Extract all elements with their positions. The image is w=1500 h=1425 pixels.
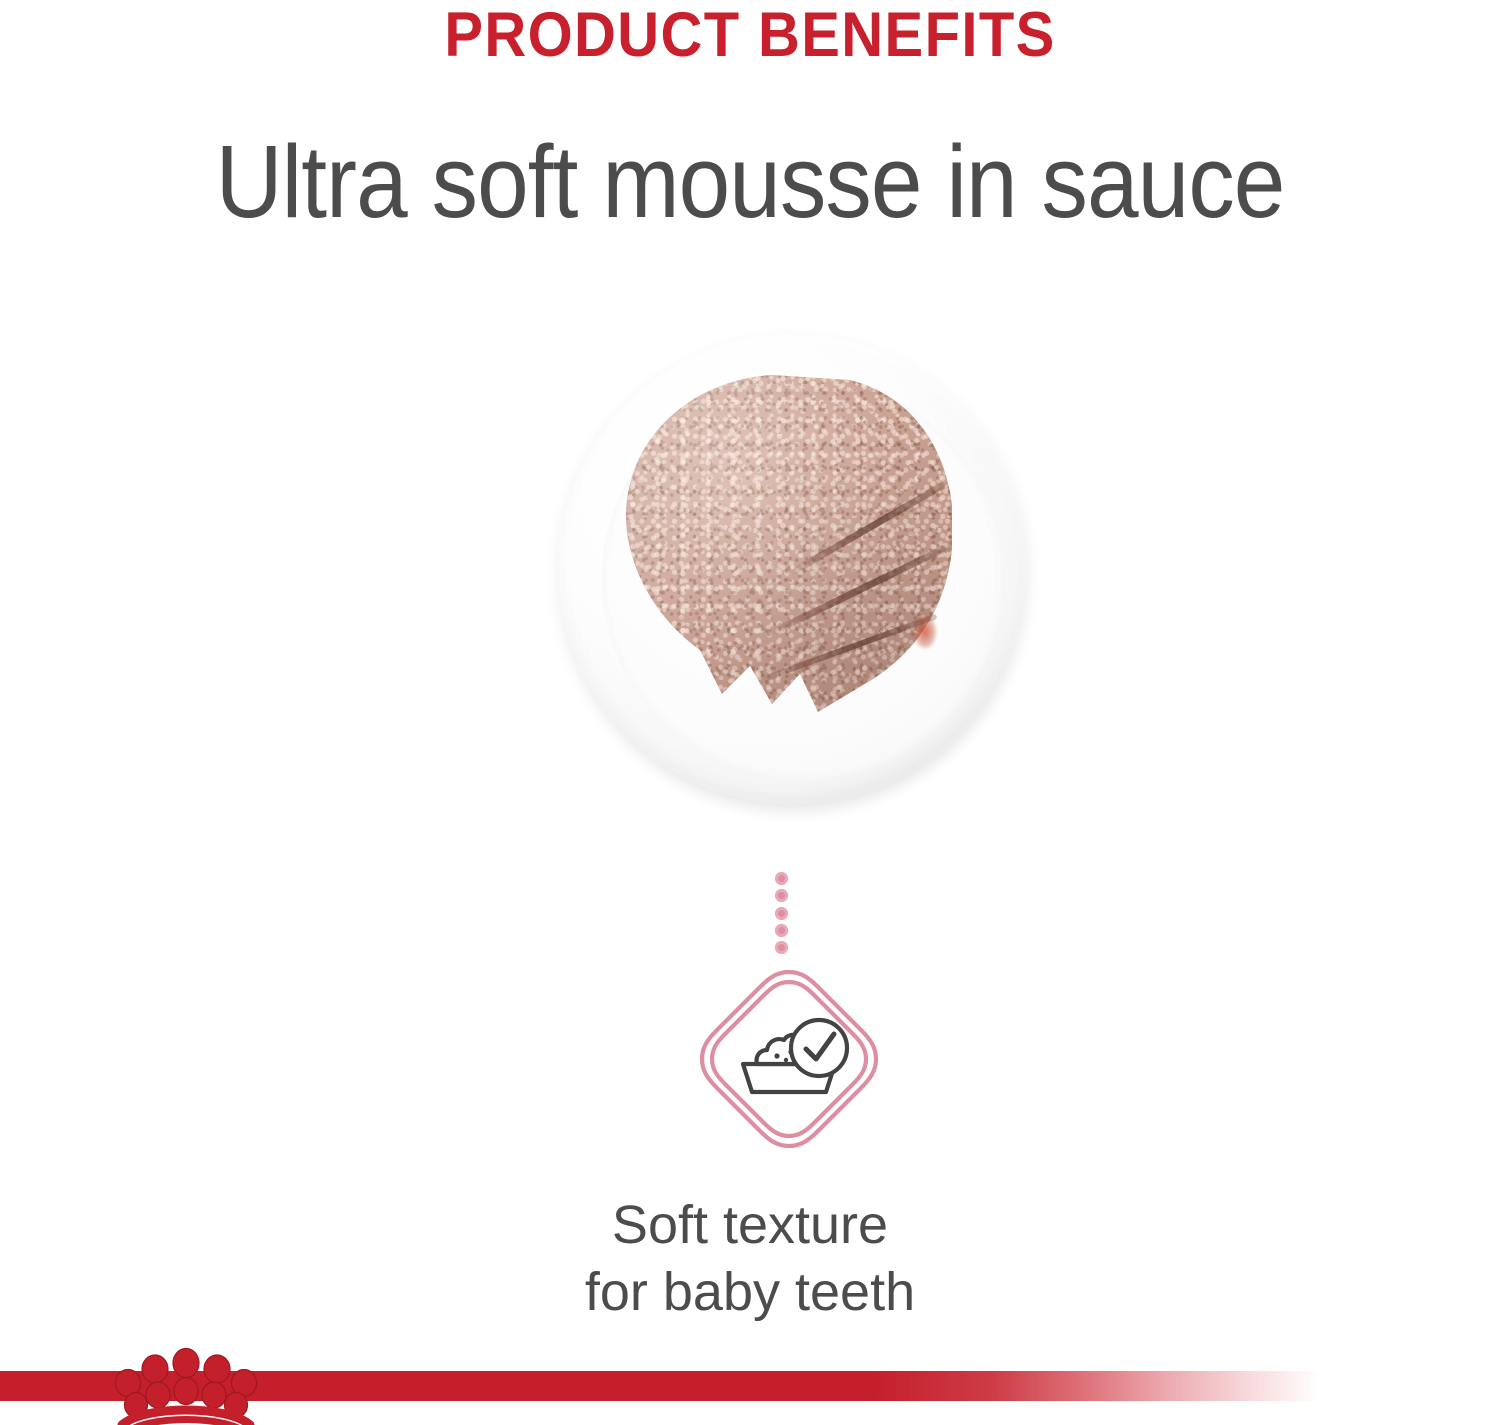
hero-product-image — [548, 322, 1038, 834]
mousse-food — [622, 374, 952, 734]
page-eyebrow: PRODUCT BENEFITS — [60, 4, 1440, 67]
crown-arc-lower — [126, 1420, 246, 1425]
connector-dot — [775, 924, 788, 937]
brand-logo — [96, 1347, 276, 1425]
mousse-shading — [622, 374, 952, 734]
connector-dot — [775, 907, 788, 920]
connector-dot — [775, 941, 788, 954]
connector-dot — [775, 872, 788, 885]
product-benefits-page: PRODUCT BENEFITS Ultra soft mousse in sa… — [0, 0, 1500, 1425]
kibble-dot — [774, 1053, 779, 1058]
dotted-connector — [773, 872, 789, 954]
connector-dot — [775, 889, 788, 902]
food-bowl-check-icon — [698, 968, 880, 1150]
caption-line-2: for baby teeth — [0, 1259, 1500, 1326]
benefit-caption: Soft texture for baby teeth — [0, 1192, 1500, 1326]
royal-canin-crown-logo — [96, 1347, 276, 1425]
check-circle — [791, 1020, 847, 1076]
page-title: Ultra soft mousse in sauce — [75, 128, 1425, 236]
kibble-dot — [784, 1058, 788, 1062]
footer — [0, 1371, 1500, 1425]
benefit-badge — [698, 968, 880, 1150]
caption-line-1: Soft texture — [0, 1192, 1500, 1259]
